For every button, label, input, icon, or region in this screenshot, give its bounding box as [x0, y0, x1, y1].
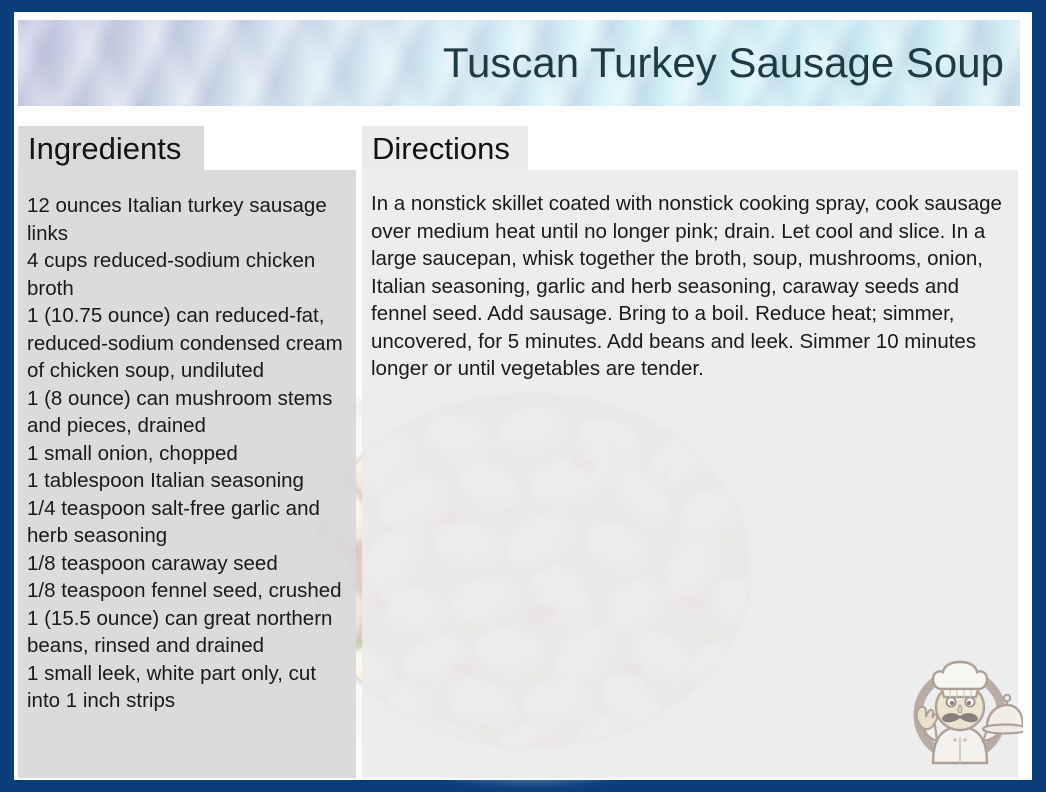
- list-item: 4 cups reduced-sodium chicken broth: [27, 247, 344, 302]
- list-item: 1/8 teaspoon caraway seed: [27, 550, 344, 578]
- ingredients-heading: Ingredients: [28, 133, 181, 164]
- list-item: 1 (15.5 ounce) can great northern beans,…: [27, 605, 344, 660]
- list-item: 1 tablespoon Italian seasoning: [27, 467, 344, 495]
- list-item: 1 small leek, white part only, cut into …: [27, 660, 344, 715]
- list-item: 1/8 teaspoon fennel seed, crushed: [27, 577, 344, 605]
- list-item: 1/4 teaspoon salt-free garlic and herb s…: [27, 495, 344, 550]
- page-title: Tuscan Turkey Sausage Soup: [443, 42, 1004, 84]
- directions-section-tab: Directions: [362, 126, 528, 170]
- title-banner: Tuscan Turkey Sausage Soup: [18, 20, 1020, 106]
- ingredients-panel: 12 ounces Italian turkey sausage links 4…: [18, 170, 356, 778]
- directions-heading: Directions: [372, 133, 510, 164]
- directions-body: In a nonstick skillet coated with nonsti…: [371, 190, 1004, 383]
- directions-panel: In a nonstick skillet coated with nonsti…: [362, 170, 1018, 778]
- recipe-card: Tuscan Turkey Sausage Soup: [0, 0, 1046, 792]
- list-item: 12 ounces Italian turkey sausage links: [27, 192, 344, 247]
- list-item: 1 small onion, chopped: [27, 440, 344, 468]
- list-item: 1 (10.75 ounce) can reduced-fat, reduced…: [27, 302, 344, 385]
- ingredients-list: 12 ounces Italian turkey sausage links 4…: [27, 192, 344, 715]
- ingredients-section-tab: Ingredients: [18, 126, 204, 170]
- list-item: 1 (8 ounce) can mushroom stems and piece…: [27, 385, 344, 440]
